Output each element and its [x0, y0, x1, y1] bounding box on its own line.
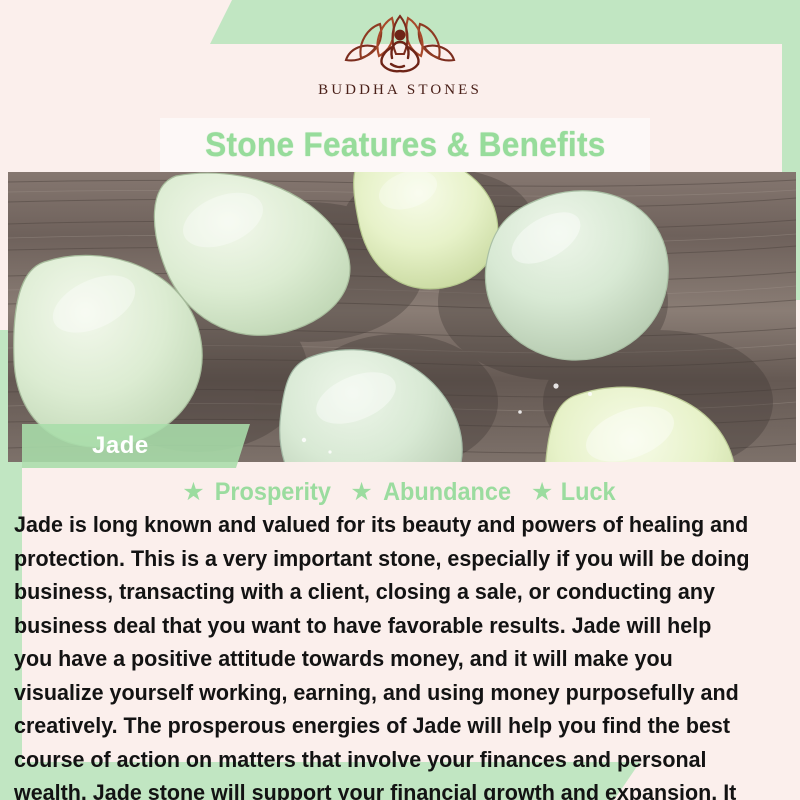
benefit-item-luck: ★ Luck [531, 478, 618, 507]
star-icon: ★ [531, 480, 553, 505]
stone-name-band: Jade [22, 424, 250, 468]
title-banner: Stone Features & Benefits [160, 118, 650, 172]
benefit-label: Prosperity [214, 478, 330, 507]
stone-description: Jade is long known and valued for its be… [14, 508, 755, 800]
star-icon: ★ [350, 480, 372, 505]
star-icon: ★ [182, 480, 204, 505]
brand-name: BUDDHA STONES [318, 82, 482, 99]
stone-info-poster: BUDDHA STONES Stone Features & Benefits [0, 0, 800, 800]
stone-name-label: Jade [92, 432, 149, 460]
benefit-label: Abundance [383, 478, 511, 507]
benefit-item-abundance: ★ Abundance [350, 478, 515, 507]
lotus-meditation-icon [334, 14, 466, 76]
benefits-row: ★ Prosperity ★ Abundance ★ Luck [0, 478, 800, 507]
page-title: Stone Features & Benefits [205, 126, 606, 165]
benefit-label: Luck [561, 478, 616, 507]
brand-header: BUDDHA STONES [0, 0, 800, 118]
benefit-item-prosperity: ★ Prosperity [182, 478, 334, 507]
stone-photo [8, 172, 796, 462]
